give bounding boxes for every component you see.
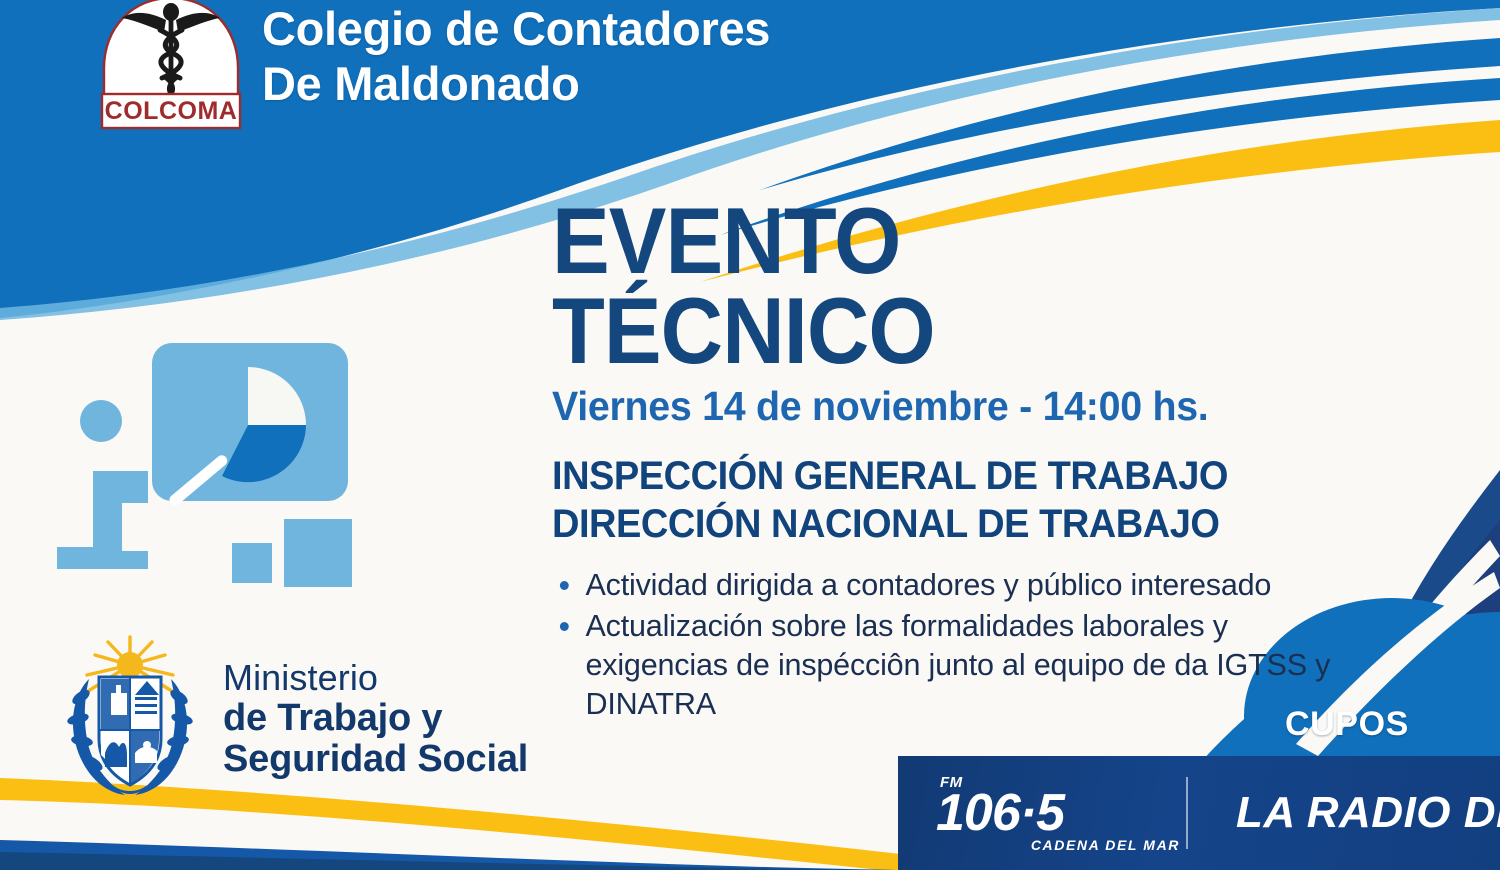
department-headings: INSPECCIÓN GENERAL DE TRABAJO DIRECCIÓN … [552, 452, 1312, 550]
ministry-line-3: Seguridad Social [223, 739, 528, 781]
ministry-line-1: Ministerio [223, 658, 528, 698]
radio-slogan: LA RADIO DE TODOS [1194, 788, 1500, 838]
uruguay-coat-of-arms-icon [55, 635, 205, 800]
event-flyer: COLCOMA Colegio de Contadores De Maldona… [0, 0, 1500, 870]
cupos-label: CUPOS [1285, 705, 1409, 744]
detail-bullet-list: Actividad dirigida a contadores y públic… [552, 565, 1352, 723]
colcoma-badge-text: COLCOMA [105, 97, 238, 125]
ministry-name: Ministerio de Trabajo y Seguridad Social [223, 654, 528, 781]
radio-divider [1186, 777, 1188, 849]
flyer-header: COLCOMA Colegio de Contadores De Maldona… [0, 0, 900, 150]
ministry-line-2: de Trabajo y [223, 698, 528, 740]
list-item: Actualización sobre las formalidades lab… [552, 606, 1340, 723]
event-datetime: Viernes 14 de noviembre - 14:00 hs. [552, 384, 1320, 429]
radio-logo: FM 106·5 CADENA DEL MAR [898, 774, 1186, 853]
department-line-1: INSPECCIÓN GENERAL DE TRABAJO [552, 452, 1312, 501]
colcoma-logo: COLCOMA [88, 0, 254, 134]
page-title: EVENTO TÉCNICO [552, 196, 1288, 376]
department-line-2: DIRECCIÓN NACIONAL DE TRABAJO [552, 500, 1312, 549]
presentation-chart-person-icon [52, 325, 392, 610]
radio-frequency: 106·5 [936, 787, 1186, 839]
radio-sponsor-banner: FM 106·5 CADENA DEL MAR LA RADIO DE TODO… [898, 756, 1500, 870]
organization-name: Colegio de Contadores De Maldonado [262, 2, 770, 112]
main-content: EVENTO TÉCNICO Viernes 14 de noviembre -… [552, 196, 1352, 725]
list-item: Actividad dirigida a contadores y públic… [552, 565, 1340, 604]
ministry-lockup: Ministerio de Trabajo y Seguridad Social [55, 630, 575, 805]
